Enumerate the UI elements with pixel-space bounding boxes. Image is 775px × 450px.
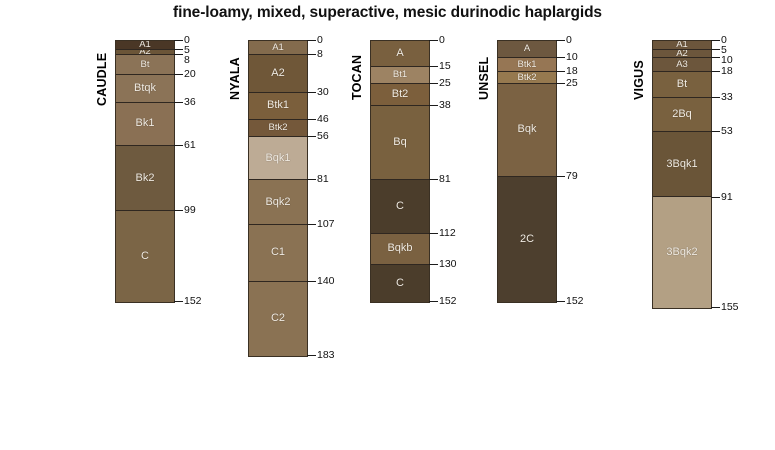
depth-label: 53 bbox=[721, 126, 733, 137]
horizon-label: Btk1 bbox=[267, 100, 289, 111]
depth-label: 152 bbox=[439, 296, 457, 307]
depth-tick bbox=[429, 233, 438, 234]
depth-tick bbox=[307, 224, 316, 225]
profile-name-label: CAUDLE bbox=[95, 40, 109, 106]
horizon-label: Bqkb bbox=[387, 243, 412, 254]
depth-label: 152 bbox=[566, 296, 584, 307]
depth-tick bbox=[711, 131, 720, 132]
depth-tick bbox=[711, 40, 720, 41]
horizon-band[interactable]: Bq bbox=[371, 106, 429, 180]
horizon-band[interactable]: 2Bq bbox=[653, 98, 711, 132]
horizon-band[interactable]: C bbox=[371, 180, 429, 233]
depth-label: 10 bbox=[721, 55, 733, 66]
horizon-band[interactable]: C2 bbox=[249, 282, 307, 356]
depth-tick bbox=[307, 40, 316, 41]
horizon-band[interactable]: Btk1 bbox=[249, 93, 307, 121]
horizon-label: Bt bbox=[141, 60, 150, 70]
depth-label: 81 bbox=[439, 174, 451, 185]
horizon-band[interactable]: Bt bbox=[116, 55, 174, 76]
horizon-band[interactable]: Bk2 bbox=[116, 146, 174, 211]
horizon-band[interactable]: C bbox=[371, 265, 429, 303]
profile-name-label: TOCAN bbox=[350, 40, 364, 100]
horizon-label: 3Bqk1 bbox=[666, 159, 697, 170]
depth-tick bbox=[711, 49, 720, 50]
horizon-band[interactable]: Btqk bbox=[116, 75, 174, 103]
horizon-label: C1 bbox=[271, 247, 285, 258]
horizon-label: C bbox=[396, 201, 404, 212]
horizon-band[interactable]: A1 bbox=[249, 41, 307, 55]
horizon-label: Bk2 bbox=[136, 173, 155, 184]
depth-label: 20 bbox=[184, 69, 196, 80]
horizon-band[interactable]: Bqkb bbox=[371, 234, 429, 265]
horizon-band[interactable]: Bqk1 bbox=[249, 137, 307, 180]
depth-tick bbox=[307, 136, 316, 137]
horizon-band[interactable]: 3Bqk1 bbox=[653, 132, 711, 197]
horizon-band[interactable]: Btk2 bbox=[498, 72, 556, 84]
horizon-band[interactable]: Bt2 bbox=[371, 84, 429, 106]
depth-label: 8 bbox=[317, 49, 323, 60]
horizon-band[interactable]: 2C bbox=[498, 177, 556, 303]
depth-label: 183 bbox=[317, 350, 335, 361]
profile-name-label: NYALA bbox=[228, 40, 242, 100]
depth-tick bbox=[711, 71, 720, 72]
horizon-label: A bbox=[524, 44, 530, 54]
horizon-label: Bq bbox=[393, 137, 406, 148]
horizon-band[interactable]: A1 bbox=[653, 41, 711, 50]
depth-tick bbox=[174, 210, 183, 211]
depth-label: 36 bbox=[184, 97, 196, 108]
horizon-label: Bt1 bbox=[393, 70, 407, 80]
depth-tick bbox=[556, 301, 565, 302]
depth-tick bbox=[307, 54, 316, 55]
depth-label: 38 bbox=[439, 100, 451, 111]
horizon-band[interactable]: A bbox=[498, 41, 556, 58]
depth-tick bbox=[174, 54, 183, 55]
profile-column: ABt1Bt2BqCBqkbC bbox=[370, 40, 430, 303]
depth-tick bbox=[174, 40, 183, 41]
depth-tick bbox=[429, 179, 438, 180]
depth-tick bbox=[174, 301, 183, 302]
horizon-band[interactable]: Bt bbox=[653, 72, 711, 98]
horizon-band[interactable]: A3 bbox=[653, 58, 711, 72]
horizon-band[interactable]: A2 bbox=[653, 50, 711, 59]
horizon-band[interactable]: Btk2 bbox=[249, 120, 307, 137]
depth-label: 152 bbox=[184, 296, 202, 307]
page-title: fine-loamy, mixed, superactive, mesic du… bbox=[0, 4, 775, 22]
horizon-label: Bt bbox=[677, 79, 687, 90]
depth-label: 33 bbox=[721, 92, 733, 103]
depth-tick bbox=[556, 71, 565, 72]
horizon-label: 3Bqk2 bbox=[666, 247, 697, 258]
horizon-band[interactable]: C bbox=[116, 211, 174, 302]
depth-tick bbox=[307, 281, 316, 282]
depth-tick bbox=[556, 83, 565, 84]
horizon-label: Bqk bbox=[518, 124, 537, 135]
depth-label: 15 bbox=[439, 61, 451, 72]
depth-label: 25 bbox=[439, 78, 451, 89]
horizon-label: Btk1 bbox=[517, 60, 536, 70]
depth-tick bbox=[429, 40, 438, 41]
profile-name-label: UNSEL bbox=[477, 40, 491, 100]
horizon-label: Btk2 bbox=[268, 123, 287, 133]
depth-label: 61 bbox=[184, 140, 196, 151]
depth-tick bbox=[711, 97, 720, 98]
depth-tick bbox=[711, 57, 720, 58]
horizon-band[interactable]: Bqk bbox=[498, 84, 556, 177]
depth-label: 25 bbox=[566, 78, 578, 89]
horizon-band[interactable]: Bt1 bbox=[371, 67, 429, 84]
horizon-band[interactable]: Bk1 bbox=[116, 103, 174, 146]
depth-tick bbox=[174, 74, 183, 75]
horizon-label: Btk2 bbox=[517, 73, 536, 83]
depth-tick bbox=[307, 92, 316, 93]
depth-tick bbox=[174, 102, 183, 103]
depth-label: 130 bbox=[439, 259, 457, 270]
depth-label: 0 bbox=[566, 35, 572, 46]
horizon-band[interactable]: A1 bbox=[116, 41, 174, 50]
horizon-label: Bqk1 bbox=[265, 153, 290, 164]
depth-label: 107 bbox=[317, 219, 335, 230]
profile-column: A1A2BtBtqkBk1Bk2C bbox=[115, 40, 175, 303]
horizon-band[interactable]: Bqk2 bbox=[249, 180, 307, 225]
depth-tick bbox=[711, 307, 720, 308]
horizon-label: Btqk bbox=[134, 83, 156, 94]
horizon-label: C bbox=[141, 251, 149, 262]
depth-label: 56 bbox=[317, 131, 329, 142]
depth-tick bbox=[307, 179, 316, 180]
depth-tick bbox=[429, 264, 438, 265]
profile-column: A1A2A3Bt2Bq3Bqk13Bqk2 bbox=[652, 40, 712, 309]
depth-tick bbox=[711, 197, 720, 198]
depth-label: 81 bbox=[317, 174, 329, 185]
horizon-band[interactable]: C1 bbox=[249, 225, 307, 282]
horizon-label: 2C bbox=[520, 234, 534, 245]
depth-label: 18 bbox=[721, 66, 733, 77]
horizon-label: C2 bbox=[271, 313, 285, 324]
depth-tick bbox=[174, 145, 183, 146]
depth-tick bbox=[307, 355, 316, 356]
depth-label: 112 bbox=[439, 228, 456, 239]
horizon-label: A1 bbox=[139, 41, 151, 50]
horizon-label: A3 bbox=[676, 60, 688, 70]
depth-label: 79 bbox=[566, 171, 578, 182]
depth-tick bbox=[429, 105, 438, 106]
depth-label: 30 bbox=[317, 87, 329, 98]
depth-tick bbox=[307, 119, 316, 120]
profile-column: ABtk1Btk2Bqk2C bbox=[497, 40, 557, 303]
horizon-label: A1 bbox=[676, 41, 688, 50]
horizon-label: Bqk2 bbox=[265, 197, 290, 208]
horizon-label: Bt2 bbox=[392, 89, 409, 100]
horizon-band[interactable]: A2 bbox=[249, 55, 307, 93]
depth-label: 8 bbox=[184, 55, 190, 66]
depth-tick bbox=[429, 301, 438, 302]
profile-column: A1A2Btk1Btk2Bqk1Bqk2C1C2 bbox=[248, 40, 308, 357]
depth-tick bbox=[429, 66, 438, 67]
horizon-label: C bbox=[396, 278, 404, 289]
horizon-label: A2 bbox=[271, 68, 284, 79]
horizon-band[interactable]: A bbox=[371, 41, 429, 67]
depth-label: 10 bbox=[566, 52, 578, 63]
depth-label: 155 bbox=[721, 302, 739, 313]
profile-name-label: VIGUS bbox=[632, 40, 646, 100]
depth-label: 0 bbox=[439, 35, 445, 46]
depth-tick bbox=[429, 83, 438, 84]
depth-label: 140 bbox=[317, 276, 335, 287]
depth-label: 18 bbox=[566, 66, 578, 77]
depth-tick bbox=[556, 57, 565, 58]
depth-tick bbox=[556, 40, 565, 41]
depth-tick bbox=[174, 49, 183, 50]
depth-tick bbox=[556, 176, 565, 177]
horizon-label: 2Bq bbox=[672, 109, 692, 120]
horizon-label: A1 bbox=[272, 43, 284, 53]
horizon-band[interactable]: Btk1 bbox=[498, 58, 556, 72]
horizon-band[interactable]: 3Bqk2 bbox=[653, 197, 711, 307]
horizon-label: A bbox=[396, 48, 403, 59]
horizon-label: Bk1 bbox=[136, 118, 155, 129]
depth-label: 46 bbox=[317, 114, 329, 125]
depth-label: 0 bbox=[317, 35, 323, 46]
horizon-label: A2 bbox=[676, 50, 688, 59]
depth-label: 91 bbox=[721, 192, 733, 203]
depth-label: 99 bbox=[184, 205, 196, 216]
